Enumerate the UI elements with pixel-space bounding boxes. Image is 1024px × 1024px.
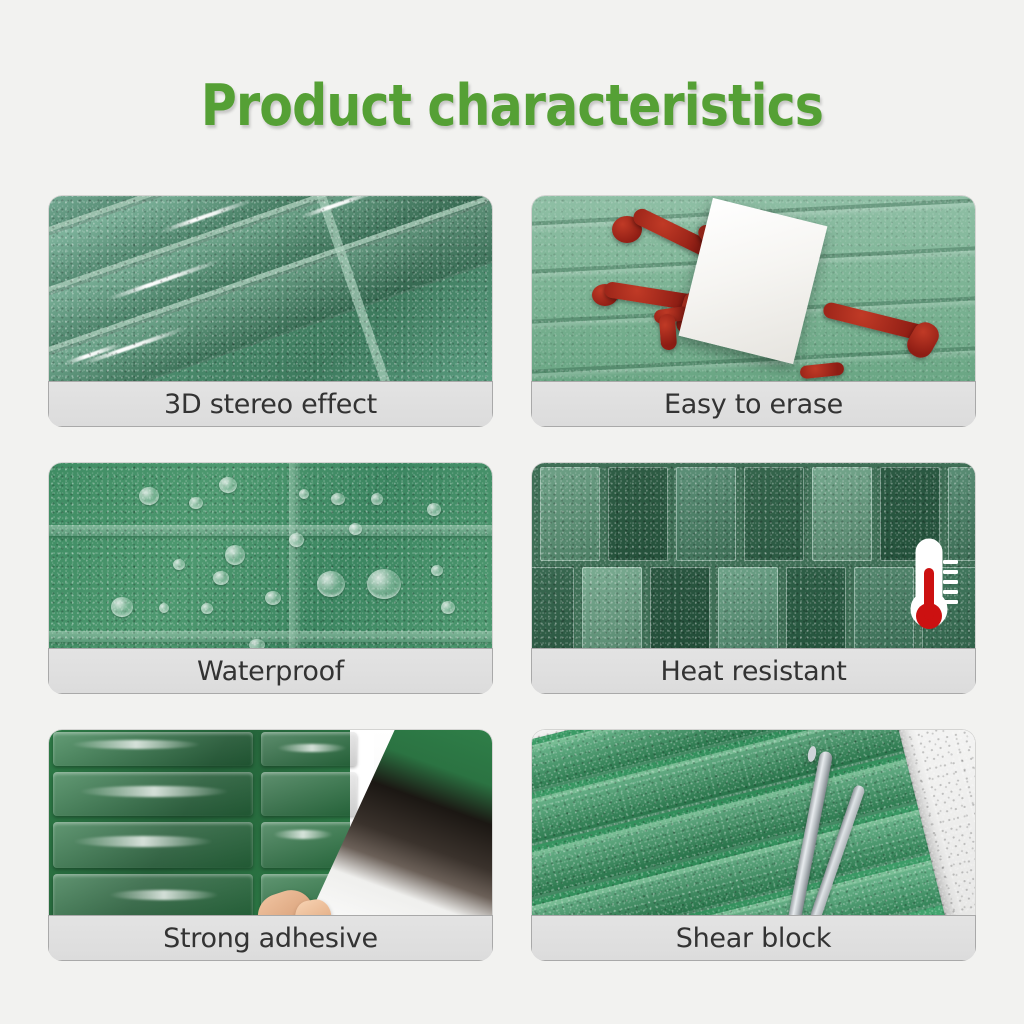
tile-gloss-icon bbox=[49, 196, 492, 381]
feature-card-heat-resistant[interactable]: Heat resistant bbox=[531, 462, 976, 694]
scissors-icon bbox=[532, 730, 975, 915]
feature-caption-strong-adhesive: Strong adhesive bbox=[48, 915, 493, 961]
feature-caption-waterproof: Waterproof bbox=[48, 648, 493, 694]
napkin-icon bbox=[532, 196, 975, 381]
feature-caption-easy-to-erase: Easy to erase bbox=[531, 381, 976, 427]
feature-card-shear-block[interactable]: Shear block bbox=[531, 729, 976, 961]
thermometer-icon bbox=[899, 534, 959, 642]
feature-card-strong-adhesive[interactable]: Strong adhesive bbox=[48, 729, 493, 961]
feature-image-shear-block bbox=[531, 729, 976, 915]
feature-caption-shear-block: Shear block bbox=[531, 915, 976, 961]
feature-image-easy-to-erase bbox=[531, 195, 976, 381]
peel-hand-icon bbox=[49, 730, 492, 915]
feature-card-easy-to-erase[interactable]: Easy to erase bbox=[531, 195, 976, 427]
feature-grid: 3D stereo effect bbox=[48, 195, 976, 961]
feature-card-3d-stereo-effect[interactable]: 3D stereo effect bbox=[48, 195, 493, 427]
feature-image-heat-resistant bbox=[531, 462, 976, 648]
page-title: Product characteristics bbox=[72, 78, 953, 135]
feature-image-waterproof bbox=[48, 462, 493, 648]
feature-card-waterproof[interactable]: Waterproof bbox=[48, 462, 493, 694]
water-drop-icon bbox=[49, 463, 492, 648]
feature-image-strong-adhesive bbox=[48, 729, 493, 915]
feature-caption-3d-stereo-effect: 3D stereo effect bbox=[48, 381, 493, 427]
feature-caption-heat-resistant: Heat resistant bbox=[531, 648, 976, 694]
product-characteristics-page: Product characteristics bbox=[0, 0, 1024, 1024]
feature-image-3d-stereo-effect bbox=[48, 195, 493, 381]
